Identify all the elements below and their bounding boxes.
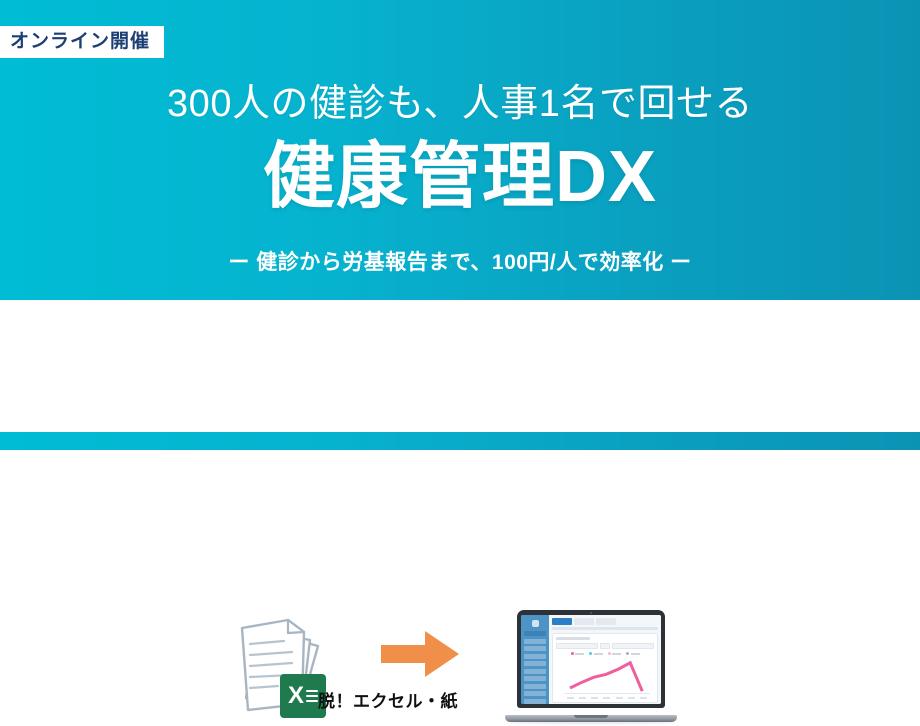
sidebar-item-6[interactable] <box>524 669 546 674</box>
tab-detail[interactable] <box>574 618 594 625</box>
hero-headline: 300人の健診も、人事1名で回せる <box>0 84 920 126</box>
legend-item-3 <box>608 652 622 655</box>
hero-subtitle: ー 健診から労基報告まで、100円/人で効率化 ー <box>0 251 920 274</box>
transition-section: X 脱！エクセル・紙 <box>0 300 920 432</box>
sidebar-logo <box>532 620 539 627</box>
dashboard-sidebar <box>521 615 549 704</box>
sidebar-item-9[interactable] <box>524 691 546 696</box>
tab-settings[interactable] <box>596 618 616 625</box>
sidebar-item-2[interactable] <box>524 639 546 644</box>
laptop-shadow <box>507 721 675 724</box>
promo-banner: オンライン開催 300人の健診も、人事1名で回せる 健康管理DX ー 健診から労… <box>0 0 920 450</box>
laptop-notch <box>574 715 608 718</box>
laptop-lid <box>517 610 665 708</box>
legend-item-4 <box>626 652 640 655</box>
chart-x-axis <box>564 693 650 694</box>
chart-card-title <box>556 637 590 640</box>
sidebar-item-4[interactable] <box>524 654 546 659</box>
footer-band <box>0 432 920 450</box>
excel-lines-icon <box>306 687 318 705</box>
page-title: 健康管理DX <box>0 138 920 217</box>
hero-section: オンライン開催 300人の健診も、人事1名で回せる 健康管理DX ー 健診から労… <box>0 0 920 300</box>
chart-canvas <box>564 657 650 693</box>
filter-select[interactable] <box>556 643 598 649</box>
chart-filter-row <box>556 643 654 649</box>
status-badge: オンライン開催 <box>0 26 164 58</box>
right-arrow-icon <box>381 631 459 677</box>
chart-plot-area <box>556 657 654 699</box>
chart-line-series <box>564 657 650 693</box>
legend-item-2 <box>589 652 603 655</box>
filter-toggle[interactable] <box>600 643 610 649</box>
transition-caption: 脱！エクセル・紙 <box>318 692 518 712</box>
sidebar-item-8[interactable] <box>524 684 546 689</box>
tab-overview[interactable] <box>552 618 572 625</box>
chart-legend <box>556 652 654 655</box>
legend-item-1 <box>571 652 585 655</box>
excel-letter: X <box>288 684 304 708</box>
sidebar-item-3[interactable] <box>524 646 546 651</box>
webcam-icon <box>590 612 592 614</box>
laptop-mockup <box>505 610 677 726</box>
sidebar-item-5[interactable] <box>524 661 546 666</box>
sidebar-item-1[interactable] <box>524 631 546 636</box>
sidebar-item-10[interactable] <box>524 699 546 704</box>
filter-select-2[interactable] <box>612 643 654 649</box>
breadcrumb <box>552 627 658 630</box>
dashboard-screen <box>521 615 661 704</box>
dashboard-tabs <box>552 618 658 625</box>
chart-x-tick-labels <box>564 697 650 699</box>
dashboard-main <box>549 615 661 704</box>
sidebar-item-7[interactable] <box>524 676 546 681</box>
chart-card <box>552 633 658 703</box>
